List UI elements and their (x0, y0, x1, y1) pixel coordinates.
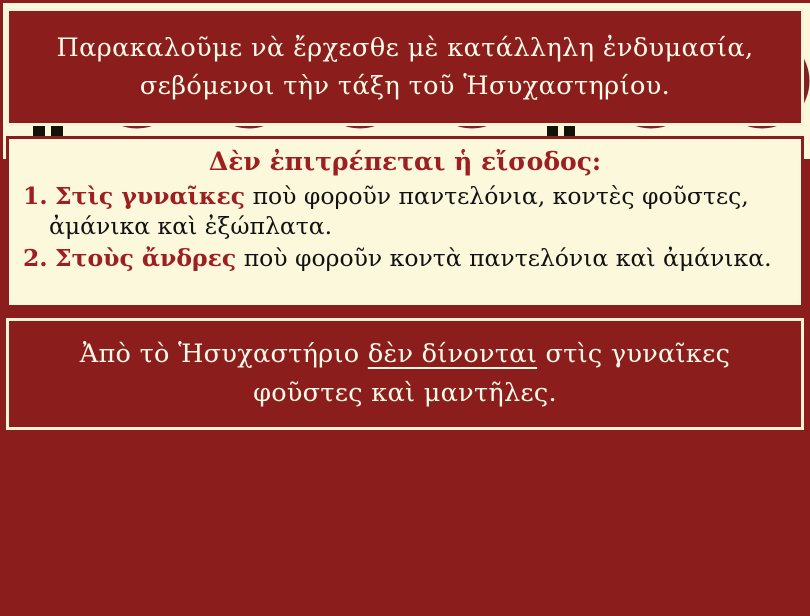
notice-text-post: στὶς γυναῖκες (537, 339, 730, 369)
list-item-accent: Στοὺς ἄνδρες (55, 244, 236, 272)
prohibited-entry-panel: Δὲν ἐπιτρέπεται ἡ εἴσοδος: 1. Στὶς γυναῖ… (6, 136, 804, 308)
greeting-line-1: Παρακαλοῦμε νὰ ἔρχεσθε μὲ κατάλληλη ἐνδυ… (57, 29, 754, 67)
notice-line-1: Ἀπὸ τὸ Ἡσυχαστήριο δὲν δίνονται στὶς γυν… (80, 335, 730, 374)
notice-text-underlined: δὲν δίνονται (368, 339, 537, 369)
greeting-panel: Παρακαλοῦμε νὰ ἔρχεσθε μὲ κατάλληλη ἐνδυ… (6, 8, 804, 126)
greeting-line-2: σεβόμενοι τὴν τάξη τοῦ Ἡσυχαστηρίου. (140, 67, 670, 105)
prohibited-heading: Δὲν ἐπιτρέπεται ἡ εἴσοδος: (23, 145, 787, 179)
list-item: 2. Στοὺς ἄνδρες ποὺ φοροῦν κοντὰ παντελό… (23, 243, 787, 273)
notice-panel: Ἀπὸ τὸ Ἡσυχαστήριο δὲν δίνονται στὶς γυν… (6, 318, 804, 430)
entry-dress-code-sign: Παρακαλοῦμε νὰ ἔρχεσθε μὲ κατάλληλη ἐνδυ… (0, 0, 810, 616)
notice-text-pre: Ἀπὸ τὸ Ἡσυχαστήριο (80, 339, 368, 369)
list-item-text: ποὺ φοροῦν κοντὰ παντελόνια καὶ ἀμάνικα. (236, 244, 771, 272)
list-item-number: 1. (23, 182, 48, 210)
list-item-continuation: ἀμάνικα καὶ ἐξώπλατα. (23, 211, 787, 241)
list-item: 1. Στὶς γυναῖκες ποὺ φοροῦν παντελόνια, … (23, 181, 787, 241)
notice-line-2: φοῦστες καὶ μαντῆλες. (253, 374, 557, 413)
list-item-number: 2. (23, 244, 48, 272)
list-item-text: ποὺ φοροῦν παντελόνια, κοντὲς φοῦστες, (245, 182, 749, 210)
list-item-accent: Στὶς γυναῖκες (55, 182, 245, 210)
